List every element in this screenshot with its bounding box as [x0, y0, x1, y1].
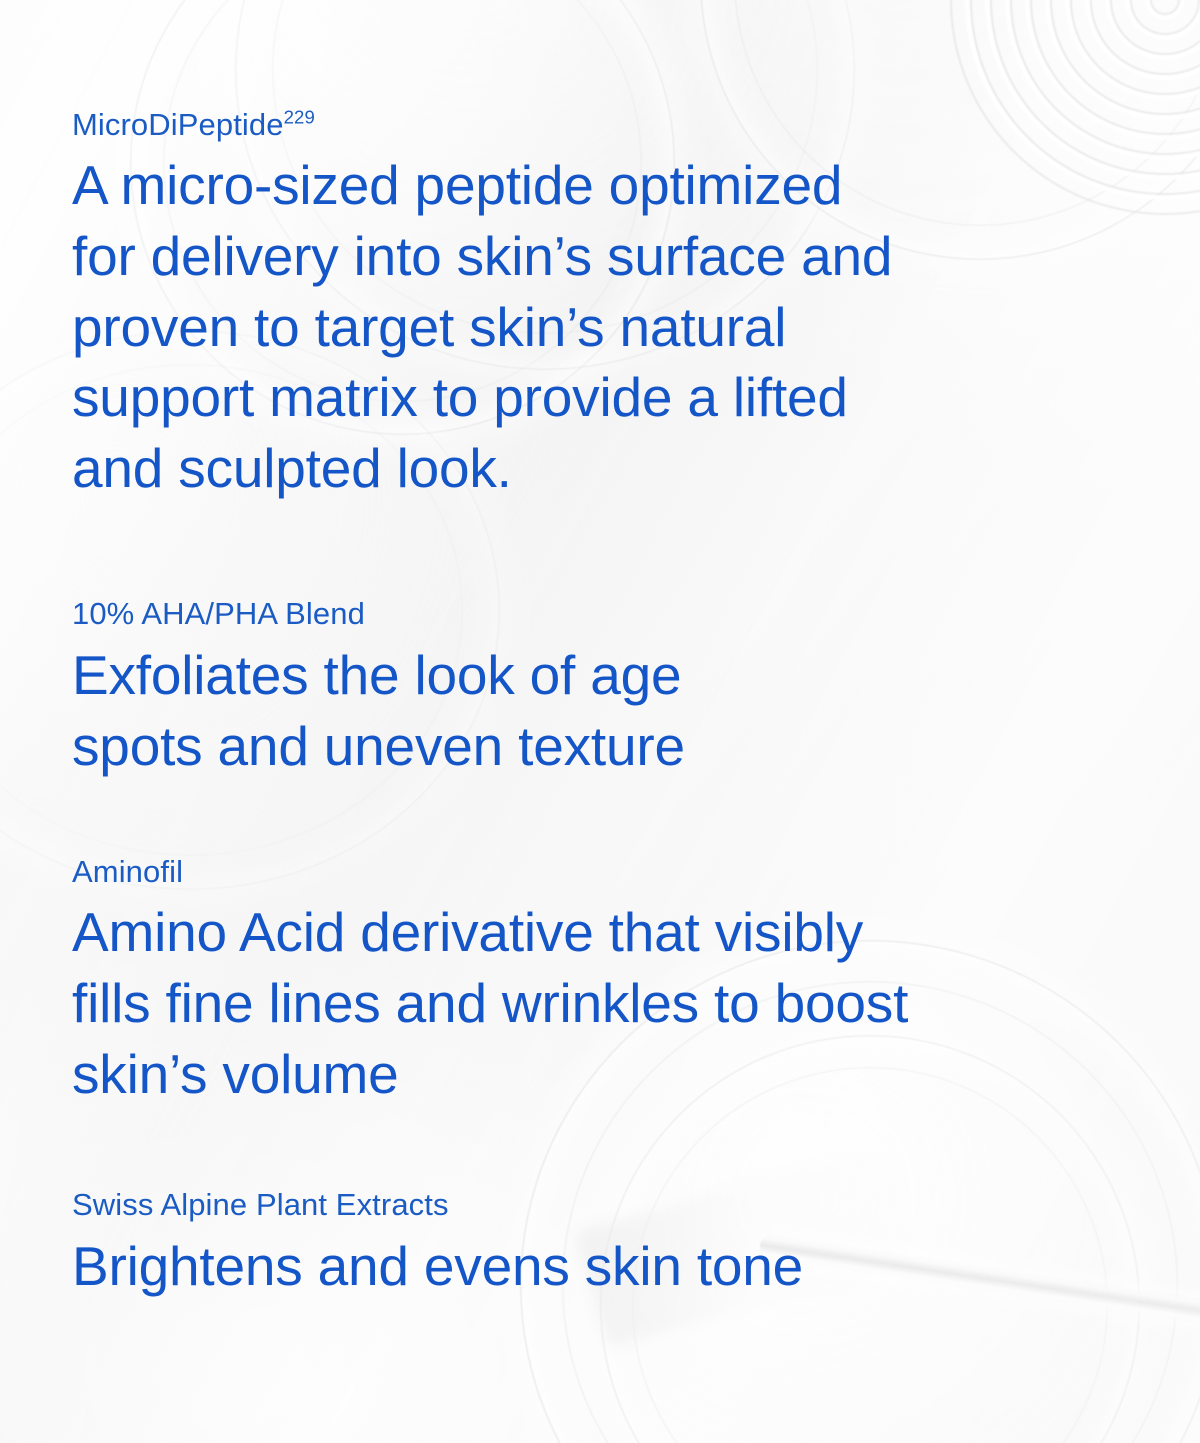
- ingredient-block-microdipeptide: MicroDiPeptide229 A micro-sized peptide …: [72, 108, 892, 504]
- ingredient-name-microdipeptide: MicroDiPeptide229: [72, 108, 892, 141]
- description-line: proven to target skin’s natural: [72, 292, 892, 363]
- ingredient-description-aha-pha-blend: Exfoliates the look of age spots and une…: [72, 640, 685, 781]
- description-line: Brightens and evens skin tone: [72, 1231, 803, 1302]
- ingredient-description-microdipeptide: A micro-sized peptide optimized for deli…: [72, 150, 892, 503]
- ingredient-description-aminofil: Amino Acid derivative that visibly fills…: [72, 897, 908, 1109]
- description-line: spots and uneven texture: [72, 711, 685, 782]
- ingredient-name-text: MicroDiPeptide: [72, 107, 284, 142]
- description-line: skin’s volume: [72, 1039, 908, 1110]
- ingredient-name-aminofil: Aminofil: [72, 855, 908, 888]
- ingredient-list: MicroDiPeptide229 A micro-sized peptide …: [72, 0, 1200, 1443]
- ingredient-block-aha-pha-blend: 10% AHA/PHA Blend Exfoliates the look of…: [72, 597, 685, 782]
- ingredient-block-swiss-alpine-plant-extracts: Swiss Alpine Plant Extracts Brightens an…: [72, 1188, 803, 1302]
- description-line: A micro-sized peptide optimized: [72, 150, 892, 221]
- ingredient-block-aminofil: Aminofil Amino Acid derivative that visi…: [72, 855, 908, 1109]
- description-line: support matrix to provide a lifted: [72, 362, 892, 433]
- description-line: fills fine lines and wrinkles to boost: [72, 968, 908, 1039]
- ingredient-name-swiss-alpine-plant-extracts: Swiss Alpine Plant Extracts: [72, 1188, 803, 1221]
- description-line: Amino Acid derivative that visibly: [72, 897, 908, 968]
- ingredient-name-superscript: 229: [284, 107, 315, 128]
- description-line: for delivery into skin’s surface and: [72, 221, 892, 292]
- description-line: and sculpted look.: [72, 433, 892, 504]
- ingredient-description-swiss-alpine-plant-extracts: Brightens and evens skin tone: [72, 1231, 803, 1302]
- description-line: Exfoliates the look of age: [72, 640, 685, 711]
- ingredient-name-aha-pha-blend: 10% AHA/PHA Blend: [72, 597, 685, 630]
